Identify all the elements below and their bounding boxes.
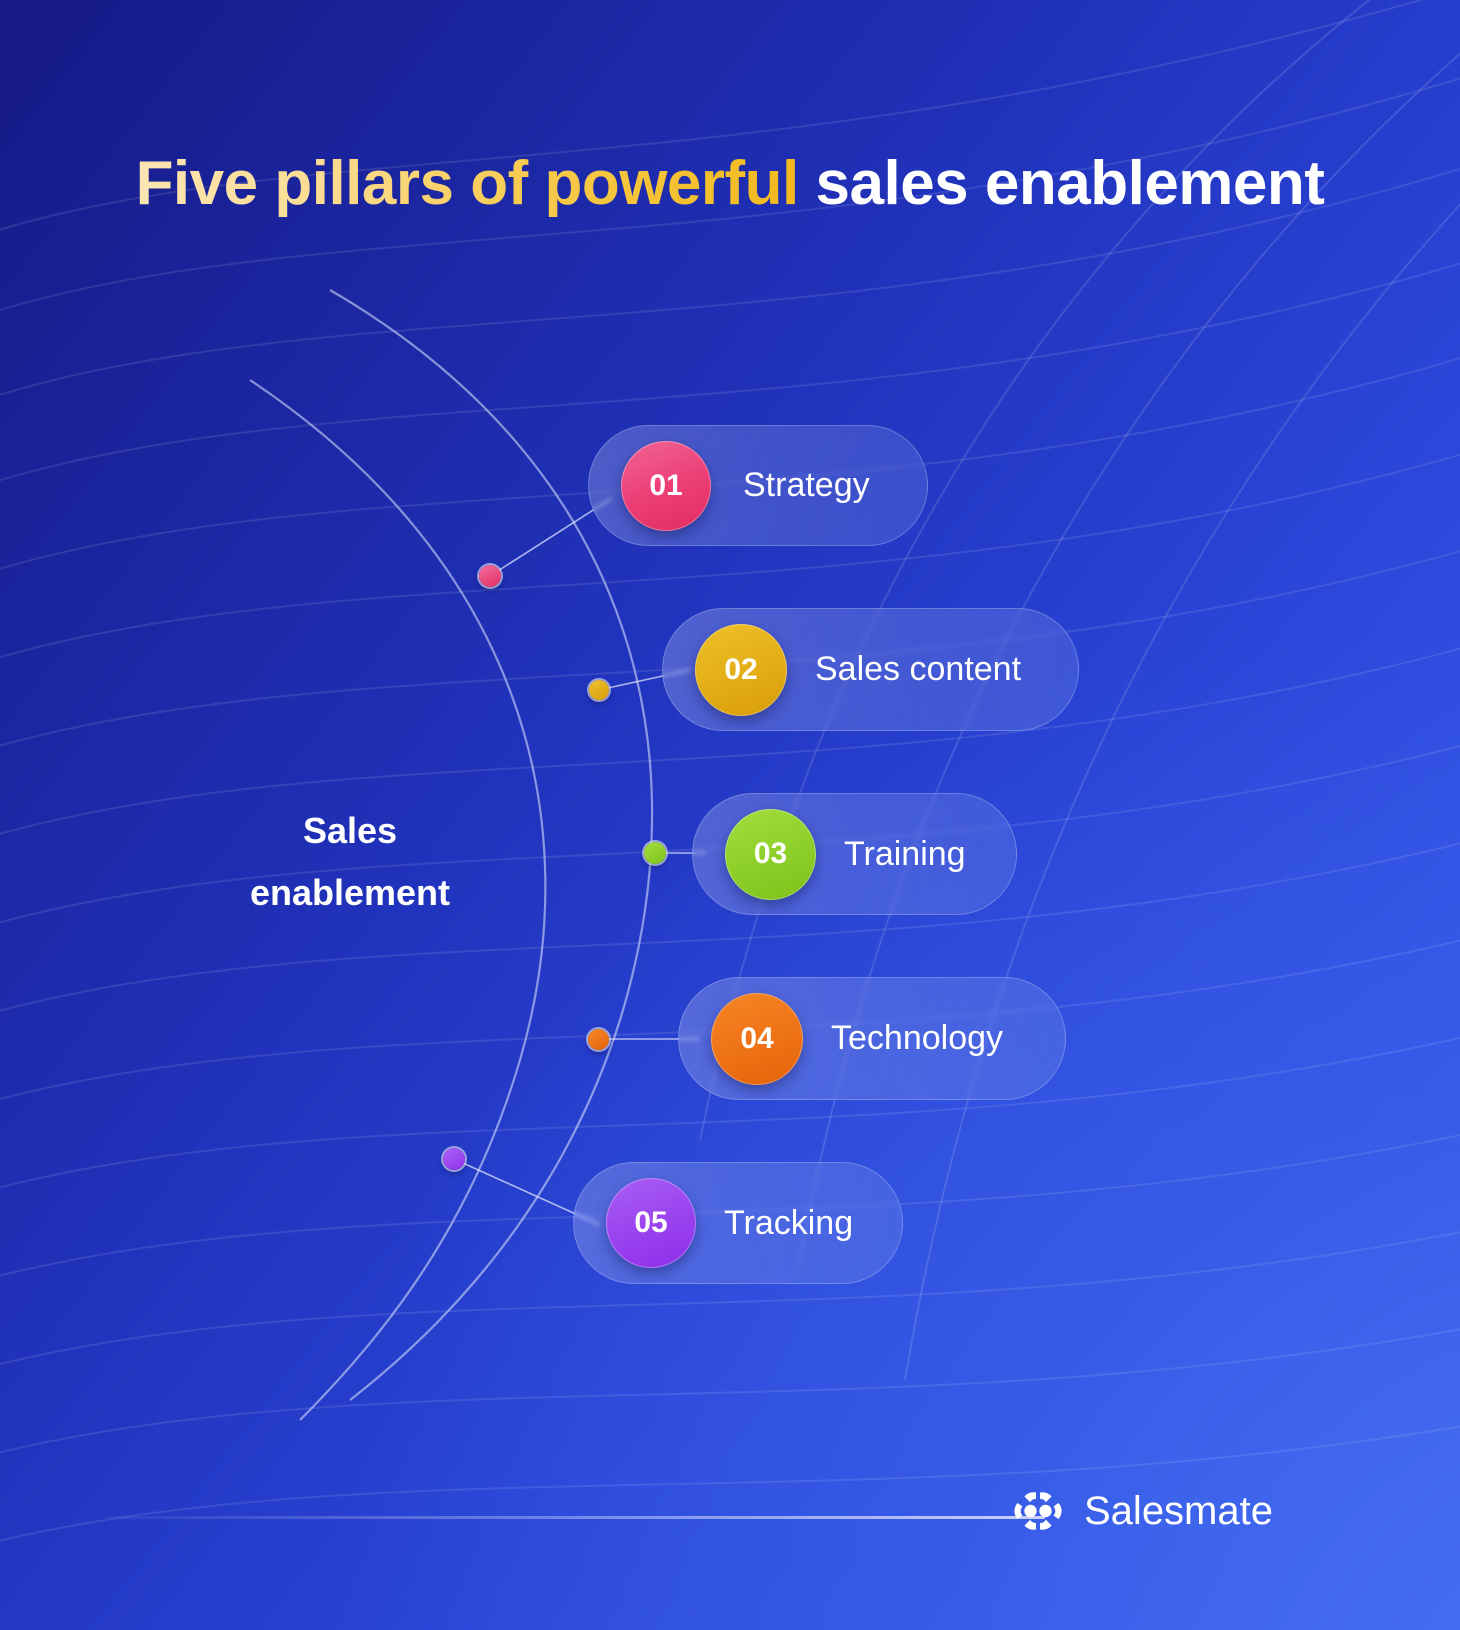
center-label-line-1: Sales (150, 800, 550, 862)
pillar-badge-02: 02 (695, 624, 787, 716)
pillar-item-strategy[interactable]: 01 Strategy (588, 425, 928, 546)
pillar-badge-01: 01 (621, 441, 711, 531)
pillar-item-training[interactable]: 03 Training (692, 793, 1017, 915)
page-title: Five pillars of powerful sales enablemen… (0, 138, 1460, 230)
pillar-label-training: Training (844, 835, 966, 874)
pillar-badge-05: 05 (606, 1178, 696, 1268)
brand-name: Salesmate (1084, 1489, 1273, 1534)
brand-logo: Salesmate (1010, 1486, 1273, 1536)
footer-divider (105, 1516, 1045, 1519)
pillar-badge-04: 04 (711, 993, 803, 1085)
pillar-item-sales-content[interactable]: 02 Sales content (662, 608, 1079, 731)
pillar-item-tracking[interactable]: 05 Tracking (573, 1162, 903, 1284)
pillar-item-technology[interactable]: 04 Technology (678, 977, 1066, 1100)
node-dot-strategy (479, 565, 501, 587)
pillar-badge-03: 03 (725, 809, 816, 900)
center-label-line-2: enablement (150, 862, 550, 924)
pillar-label-tracking: Tracking (724, 1204, 853, 1243)
center-label: Sales enablement (150, 800, 550, 924)
pillar-label-strategy: Strategy (743, 466, 870, 505)
salesmate-logo-icon (1010, 1486, 1066, 1536)
title-accent-text: Five pillars of powerful (136, 149, 799, 218)
node-dot-training (644, 842, 666, 864)
node-dot-technology (588, 1029, 609, 1050)
pillar-label-technology: Technology (831, 1019, 1003, 1058)
node-dot-sales-content (589, 680, 609, 700)
title-plain-text: sales enablement (799, 149, 1325, 218)
node-dot-tracking (443, 1148, 465, 1170)
pillar-label-sales-content: Sales content (815, 650, 1021, 689)
infographic-canvas: Five pillars of powerful sales enablemen… (0, 0, 1460, 1630)
